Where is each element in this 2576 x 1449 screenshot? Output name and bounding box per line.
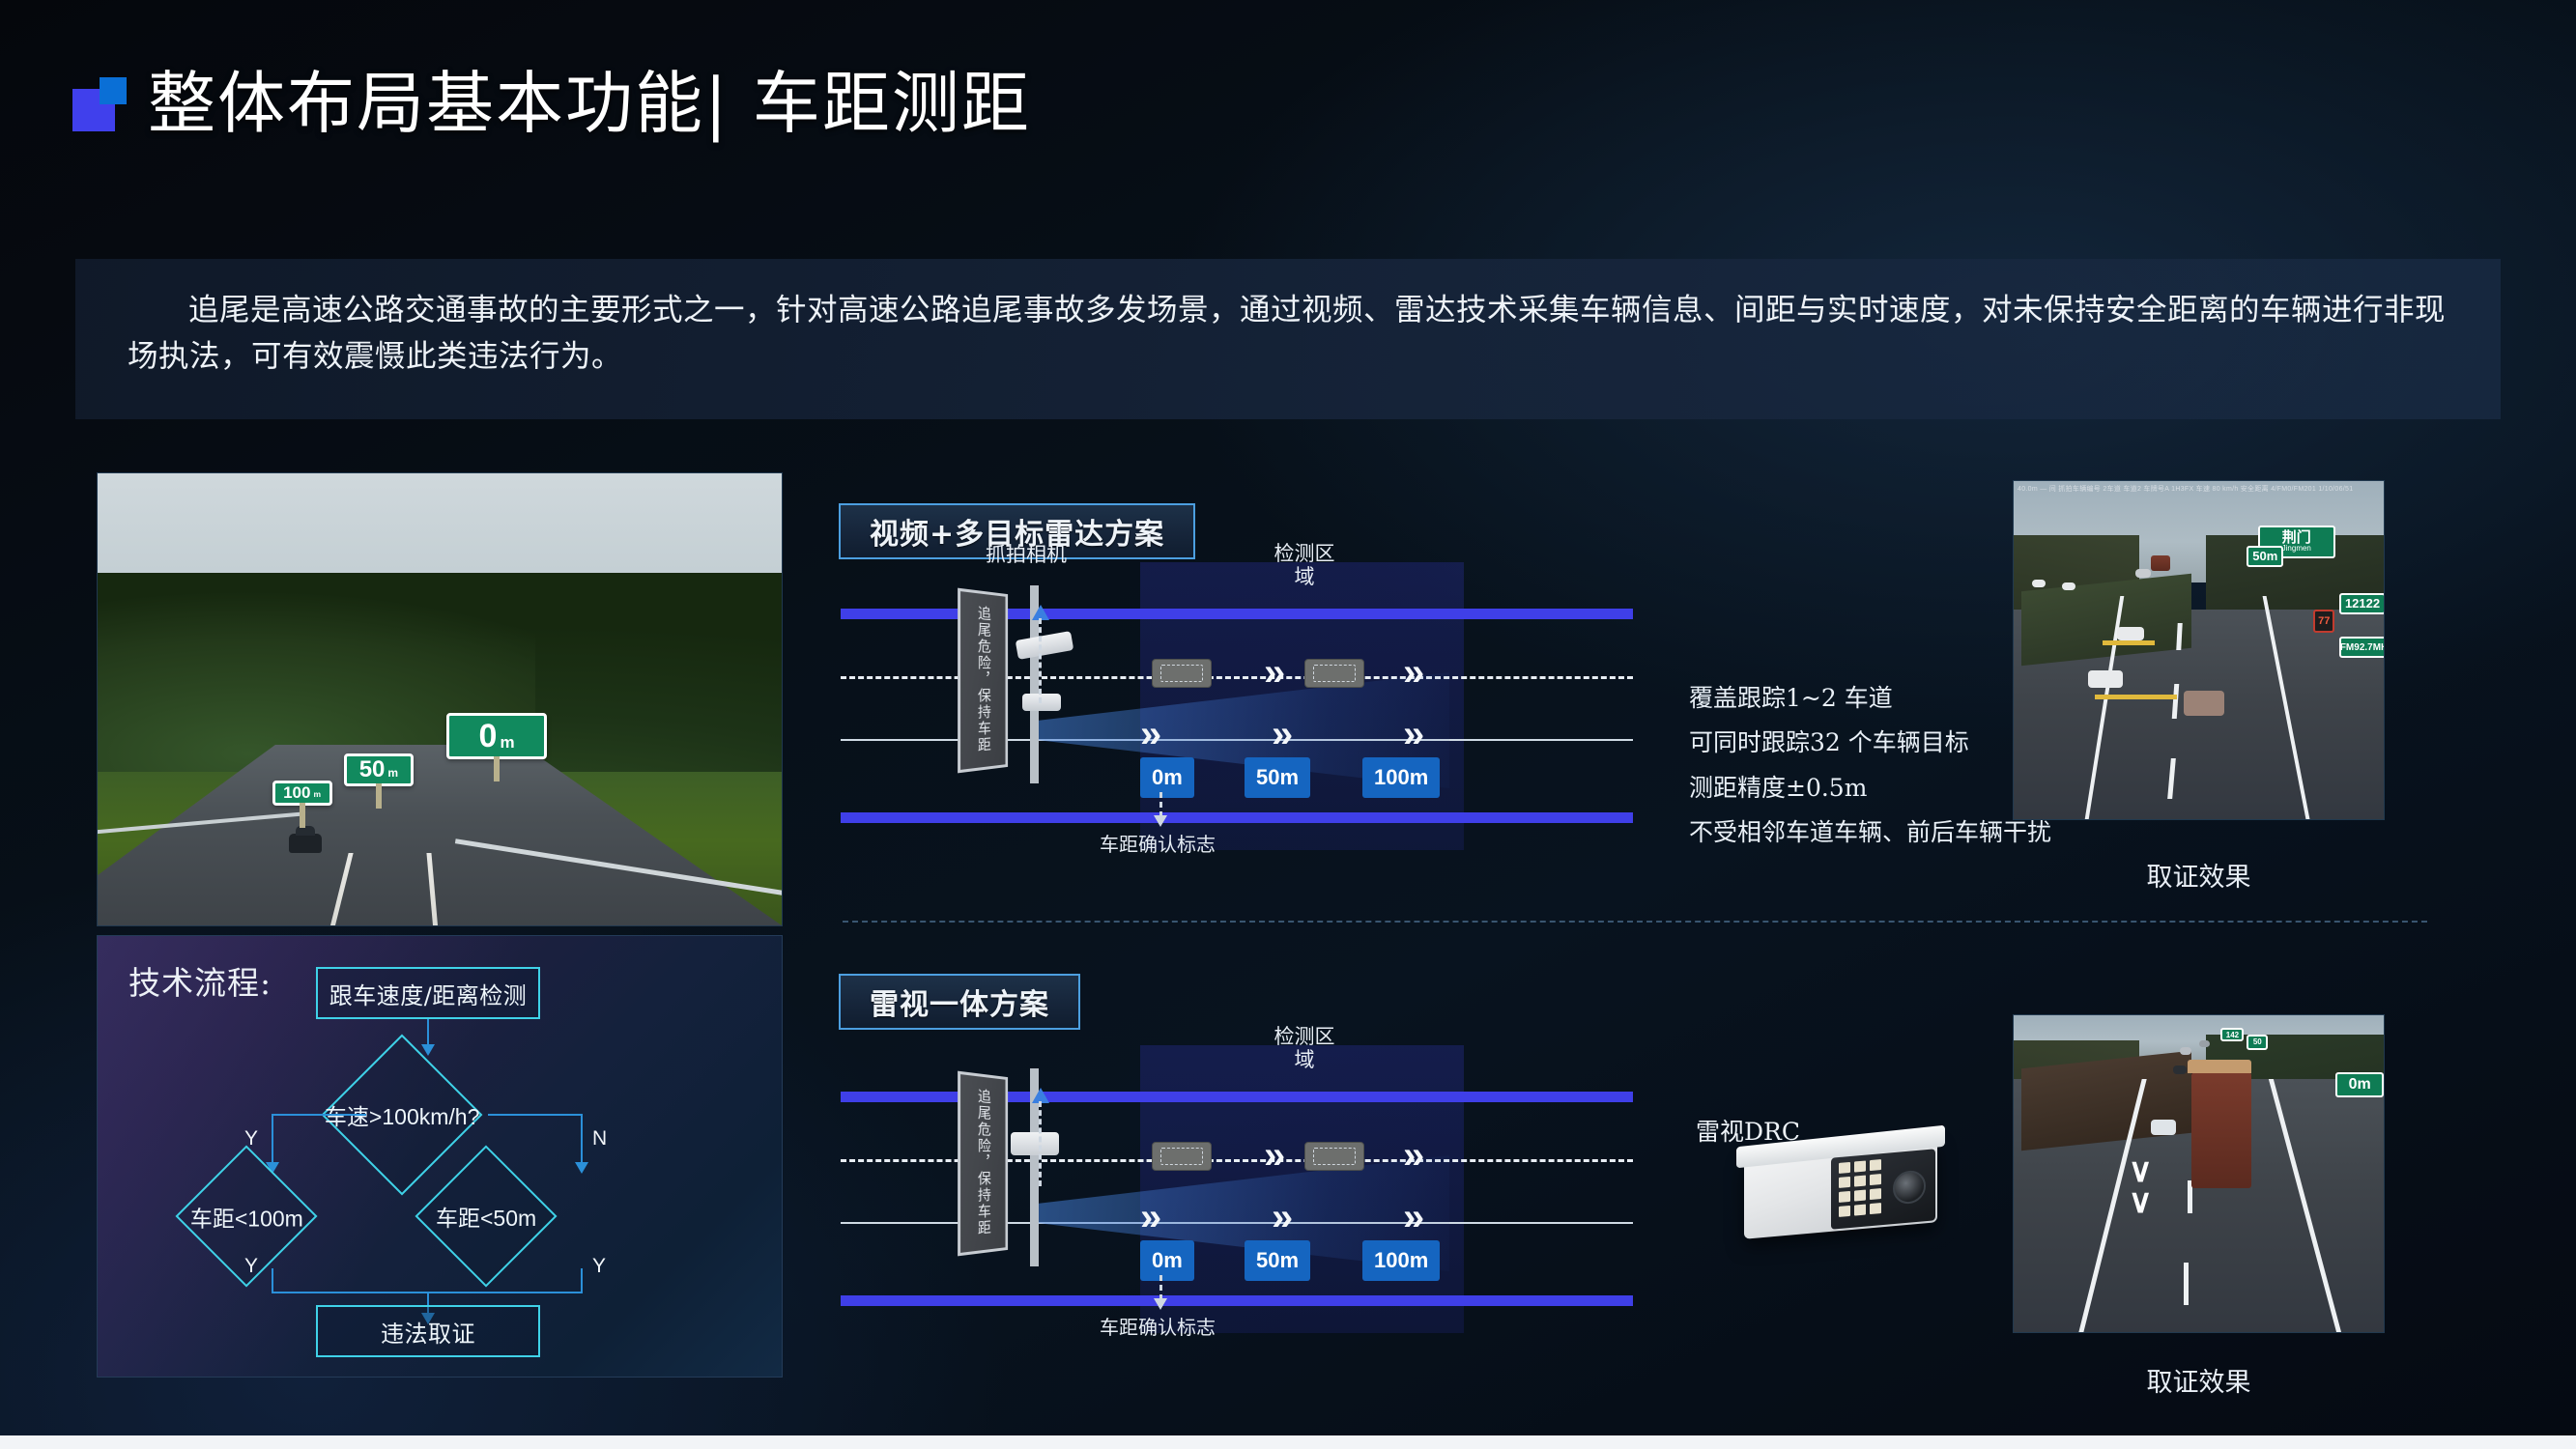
diagram-vehicle [1152,1142,1212,1171]
road-edge-bottom [841,1295,1633,1306]
detection-zone-label-line2: 域 [1227,566,1382,589]
distance-sign-value: 50 [359,756,386,783]
road-lane-line [330,853,354,925]
evidence-caption-1: 取证效果 [2013,856,2385,894]
distance-badge-0m: 0m [1140,757,1194,798]
technical-flow-panel: 技术流程: 跟车速度/距离检测 车速>100km/h? Y N 车距<100m … [97,935,783,1378]
device-label: 雷视DRC [1696,1113,1800,1148]
distance-marker-label: 车距确认标志 [1100,1312,1216,1340]
chevron-marking-icon: » [1140,715,1161,753]
flow-node-end: 违法取证 [316,1305,540,1357]
flow-connector [581,1268,583,1293]
evidence-vehicle [2117,627,2144,640]
evidence-vehicle [2199,1040,2210,1047]
evidence-truck-tarp [2188,1060,2251,1073]
title-square-icon [72,77,127,131]
distance-badge-50m: 50m [1245,1240,1310,1281]
evidence-vehicle [2151,1120,2176,1135]
distance-marker-label: 车距确认标志 [1100,829,1216,857]
slide-root: 整体布局基本功能| 车距测距 追尾是高速公路交通事故的主要形式之一，针对高速公路… [0,0,2576,1449]
chevron-marking-icon: » [1264,1136,1285,1175]
capture-camera-icon [1016,631,1074,660]
flow-connector [272,1268,273,1293]
detection-zone-label: 检测区 域 [1227,543,1382,589]
evidence-speed-display: 77 [2313,610,2334,633]
distance-sign-value: 100 [283,783,310,803]
direction-arrow-stem [1039,1101,1042,1186]
chevron-marking-icon: » [1272,715,1293,753]
distance-badge-50m: 50m [1245,757,1310,798]
capture-camera-label: 抓拍相机 [986,539,1067,568]
road-sign-value: 50 [2252,549,2266,563]
evidence-road-sign-50: 50 [2247,1035,2268,1050]
evidence-lane-dash [2184,1263,2189,1305]
radar-vision-device: 雷视DRC [1686,1101,2005,1265]
chevron-marking-icon: » [1403,1136,1424,1175]
distance-sign-value: 0 [479,718,498,755]
evidence-truck [2191,1072,2251,1188]
detection-zone-label-line2: 域 [1227,1049,1382,1072]
evidence-road-sign-142: 142 [2220,1028,2244,1041]
flow-connector [272,1114,366,1116]
title-text: 整体布局基本功能| 车距测距 [148,70,1031,137]
evidence-vehicle [2135,569,2151,578]
marker-pointer-arrow [1154,815,1167,827]
evidence-vehicle [2180,1047,2191,1055]
road-lane-line [426,853,438,925]
description-banner: 追尾是高速公路交通事故的主要形式之一，针对高速公路追尾事故多发场景，通过视频、雷… [75,259,2501,419]
flow-branch-no-label: N [592,1127,607,1151]
flow-connector [427,1019,429,1046]
evidence-vehicle [2173,1065,2187,1074]
distance-sign-0m: 0 m [446,713,547,759]
device-led-array [1839,1159,1881,1217]
distance-sign-unit: m [313,789,321,799]
highway-distance-markers-photo: 0 m 50 m 100 m [97,472,783,926]
evidence-photo-video-radar: 荆门 Jingmen 50 m 12122 FM92.7MHz 77 40.0m… [2013,480,2385,820]
direction-arrow-stem [1039,618,1042,703]
radar-unit-icon [1022,694,1061,711]
flow-node-label: 车距<50m [436,1200,536,1233]
flow-arrow [575,1162,588,1174]
evidence-osd-red-text [2019,1297,2021,1308]
distance-badge-100m: 100m [1362,1240,1440,1281]
diagram-vehicle [1152,659,1212,688]
road-sign-pinyin: Jingmen [2282,545,2311,553]
evidence-chevron-marking-icon: ∨ [2129,1189,2153,1215]
flow-node-label: 车距<100m [190,1200,303,1233]
evidence-road-sign-radio: FM92.7MHz [2339,637,2385,658]
flow-right-yes-label: Y [592,1255,606,1278]
marker-pointer-stem [1159,792,1162,817]
distance-sign-100m: 100 m [272,781,332,806]
flow-arrow [421,1044,435,1056]
sign-post [376,783,382,809]
evidence-road-sign-50m: 50 m [2247,546,2283,567]
road-diagram-radar-vision: 检测区 域 追尾危险，保持车距 » » » » » 0m 50m 100m 车距… [841,1063,1633,1323]
page-title: 整体布局基本功能| 车距测距 [72,70,1031,137]
road-sign-unit: m [2267,549,2278,563]
description-paragraph: 追尾是高速公路交通事故的主要形式之一，针对高速公路追尾事故多发场景，通过视频、雷… [128,288,2448,381]
road-edge-bottom [841,812,1633,823]
chevron-marking-icon: » [1272,1198,1293,1236]
evidence-photo-radar-vision: ∨ ∨ 0 m 142 50 [2013,1014,2385,1333]
road-sign-name: 荆门 [2282,530,2311,545]
flow-node-start: 跟车速度/距离检测 [316,967,540,1019]
radar-vision-unit-icon [1011,1132,1059,1155]
distance-badge-0m: 0m [1140,1240,1194,1281]
evidence-road-sign-0m: 0 m [2335,1072,2384,1097]
scheme-tag-radar-vision[interactable]: 雷视一体方案 [839,974,1080,1030]
gantry-sign-text: 追尾危险，保持车距 [974,1088,992,1237]
chevron-marking-icon: » [1140,1198,1161,1236]
sign-post [300,803,305,828]
chevron-marking-icon: » [1403,653,1424,692]
gantry-sign: 追尾危险，保持车距 [958,1071,1008,1257]
marker-pointer-arrow [1154,1298,1167,1310]
chevron-marking-icon: » [1403,1198,1424,1236]
flow-connector [272,1114,273,1164]
gantry-sign: 追尾危险，保持车距 [958,588,1008,774]
evidence-truck [2151,555,2170,571]
evidence-vehicle-oncoming [2062,582,2075,590]
photo-vehicle [289,834,322,853]
detection-zone-label-line1: 检测区 [1227,543,1382,566]
marker-pointer-stem [1159,1275,1162,1300]
evidence-osd-text: 40.0m — 间 抓拍车辆编号 2车道 车道2 车牌号A 1H3FX 车速 8… [2018,484,2380,494]
flow-connector [581,1114,583,1164]
title-square-small [100,77,127,104]
chevron-marking-icon: » [1403,715,1424,753]
flow-left-yes-label: Y [244,1255,258,1278]
road-diagram-video-radar: 检测区 域 追尾危险，保持车距 抓拍相机 » » » » » 0m 50m 10… [841,580,1633,840]
evidence-vehicle-oncoming [2032,580,2046,587]
evidence-lane-dash [2176,623,2182,650]
flow-connector [488,1114,583,1116]
evidence-caption-2: 取证效果 [2013,1361,2385,1399]
evidence-detection-line [2095,695,2176,699]
section-divider [843,921,2427,923]
distance-sign-unit: m [387,766,398,780]
distance-sign-unit: m [500,733,514,753]
evidence-vehicle [2088,670,2123,688]
evidence-chevron-marking-icon: ∨ [2129,1158,2153,1184]
diagram-vehicle [1304,1142,1364,1171]
chevron-marking-icon: » [1264,653,1285,692]
distance-badge-100m: 100m [1362,757,1440,798]
gantry-sign-text: 追尾危险，保持车距 [974,605,992,754]
sign-post [494,756,500,781]
diagram-vehicle [1304,659,1364,688]
road-sign-value: 0 [2349,1076,2358,1094]
detection-zone-label-line1: 检测区 [1227,1026,1382,1049]
evidence-vehicle-suv [2184,691,2224,716]
distance-sign-50m: 50 m [344,753,414,786]
flowchart-title: 技术流程: [129,957,272,1004]
evidence-road-sign-kilometer: 12122 [2339,593,2385,614]
road-sign-unit: m [2358,1076,2371,1094]
evidence-detection-line [2103,640,2155,645]
detection-zone-label: 检测区 域 [1227,1026,1382,1072]
flow-node-distance-50: 车距<50m [415,1145,557,1287]
